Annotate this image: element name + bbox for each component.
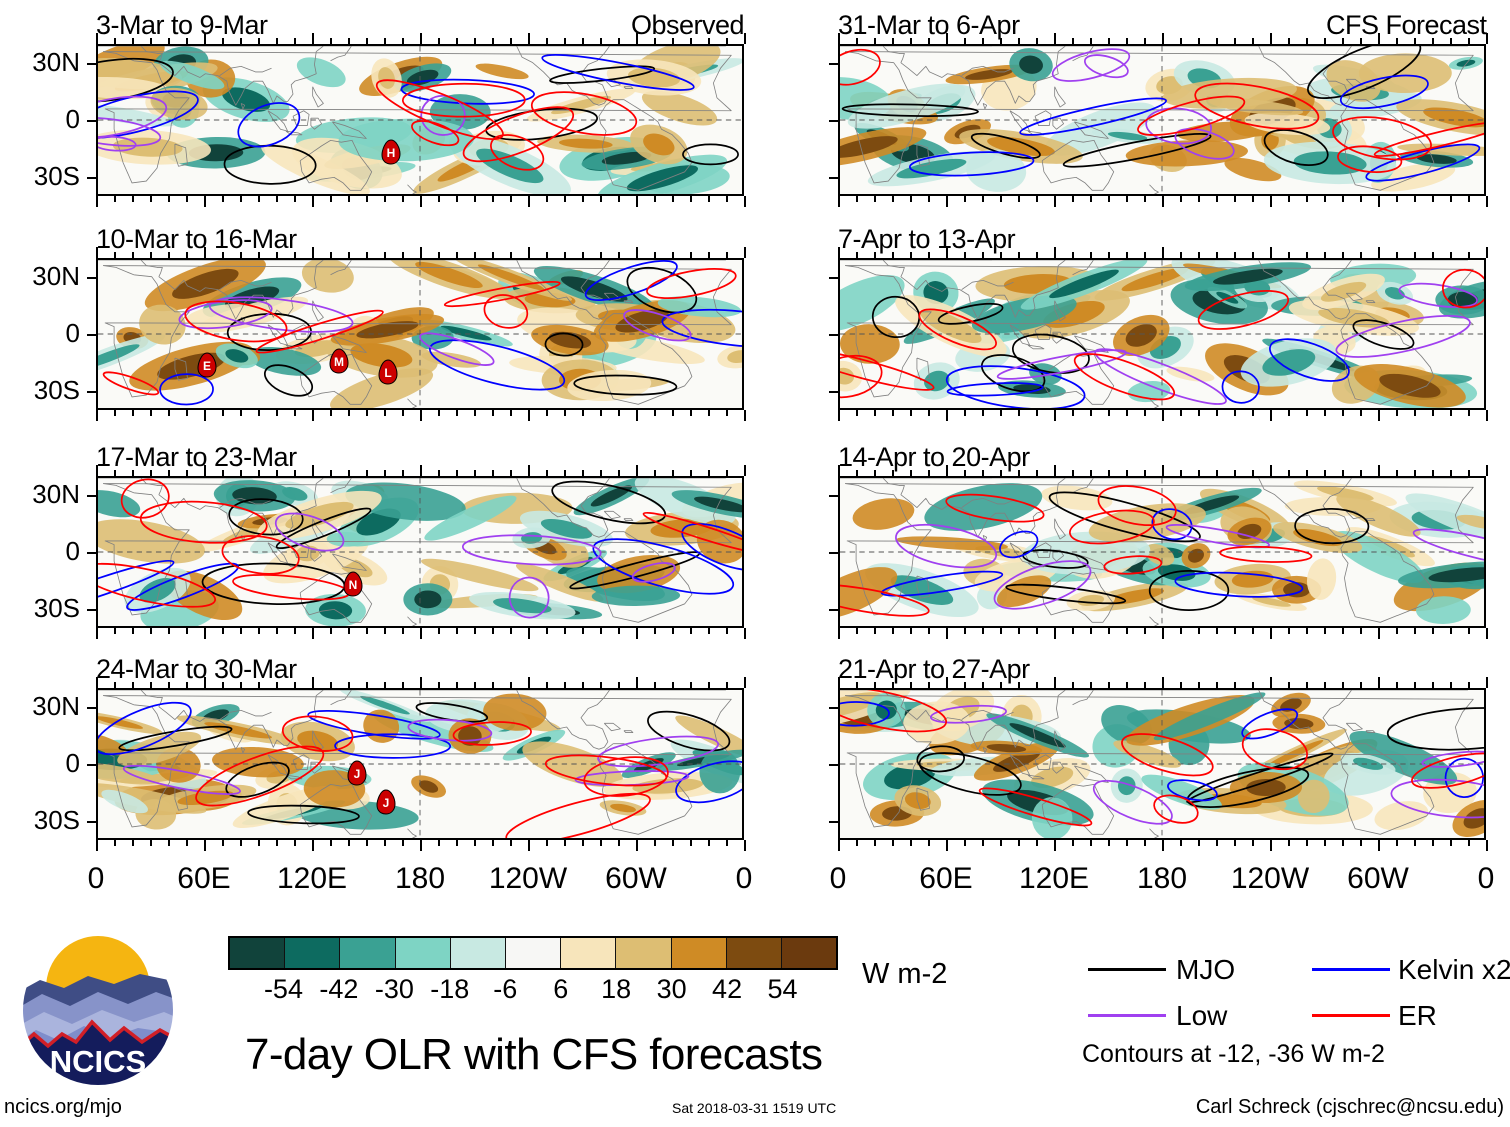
x-tick-mark [114,196,116,202]
x-tick-mark [1360,410,1362,416]
x-tick-mark [1252,682,1254,688]
x-tick-mark [946,677,948,688]
x-tick-mark [1468,682,1470,688]
x-tick-mark [420,840,422,851]
y-tick-mark [829,821,838,823]
x-tick-mark [1342,840,1344,846]
x-tick-mark [1090,470,1092,476]
x-tick-mark [1378,465,1380,476]
y-tick-mark [829,707,838,709]
x-tick-mark [1486,33,1488,44]
x-tick-mark [294,38,296,44]
x-tick-mark [510,470,512,476]
x-tick-mark [492,682,494,688]
x-tick-mark [240,840,242,846]
x-tick-mark [420,247,422,258]
x-tick-mark [1144,628,1146,634]
x-tick-mark [1288,38,1290,44]
x-tick-mark [1450,682,1452,688]
x-tick-mark [366,38,368,44]
x-tick-mark [1414,38,1416,44]
x-tick-mark [348,252,350,258]
x-tick-mark [456,38,458,44]
x-tick-mark [1306,682,1308,688]
y-tick-mark [829,277,838,279]
x-tick-mark [654,38,656,44]
x-tick-mark [294,628,296,634]
x-tick-mark [1180,628,1182,634]
x-tick-mark [96,677,98,688]
x-tick-mark [222,840,224,846]
x-tick-mark [1252,38,1254,44]
x-tick-mark [1270,465,1272,476]
colorbar-strip [228,936,838,970]
tropical-cyclone-marker-icon: J [375,789,397,815]
x-tick-mark [1396,38,1398,44]
x-tick-mark [168,682,170,688]
x-tick-mark [1468,38,1470,44]
svg-text:M: M [334,355,344,369]
x-tick-mark [1486,677,1488,688]
x-tick-mark [564,38,566,44]
x-tick-mark [672,682,674,688]
y-axis-label-30N: 30N [0,691,80,722]
x-tick-mark [1198,38,1200,44]
x-tick-mark [1072,628,1074,634]
x-tick-mark [438,38,440,44]
map-panel-fcst-1[interactable] [838,44,1486,196]
colorbar-bin-2 [340,938,395,968]
x-tick-mark [1072,196,1074,202]
x-tick-mark [348,840,350,846]
x-tick-mark [402,840,404,846]
x-tick-mark [402,628,404,634]
colorbar-bin-0 [230,938,285,968]
x-tick-mark [1036,252,1038,258]
x-tick-mark [366,410,368,416]
x-tick-mark [168,470,170,476]
x-tick-mark [132,840,134,846]
x-tick-mark [1432,628,1434,634]
x-tick-mark [438,628,440,634]
x-tick-mark [744,628,746,639]
legend-swatch-low [1088,1014,1166,1017]
x-tick-mark [1252,196,1254,202]
x-axis-label-60E: 60E [886,862,1006,896]
x-tick-mark [1000,38,1002,44]
x-tick-mark [690,682,692,688]
x-tick-mark [1162,196,1164,207]
colorbar: -54-42-30-18-6618304254 [228,936,868,1016]
x-tick-mark [1450,840,1452,846]
x-tick-mark [1288,682,1290,688]
x-tick-mark [1234,196,1236,202]
x-tick-mark [982,252,984,258]
x-tick-mark [1018,682,1020,688]
x-tick-mark [910,410,912,416]
x-tick-mark [744,410,746,421]
x-tick-mark [600,470,602,476]
x-tick-mark [384,196,386,202]
map-panel-fcst-4[interactable] [838,688,1486,840]
x-tick-mark [1198,470,1200,476]
x-tick-mark [96,247,98,258]
x-tick-mark [1090,410,1092,416]
x-tick-mark [928,410,930,416]
x-tick-mark [546,628,548,634]
ncics-logo[interactable]: NCICS [18,930,178,1090]
x-tick-mark [1270,628,1272,639]
x-tick-mark [1144,38,1146,44]
x-tick-mark [1414,196,1416,202]
x-tick-mark [1234,840,1236,846]
x-tick-mark [294,840,296,846]
x-tick-mark [910,196,912,202]
x-tick-mark [946,196,948,207]
x-tick-mark [1360,38,1362,44]
x-tick-mark [528,628,530,639]
x-tick-mark [438,682,440,688]
x-tick-mark [456,196,458,202]
colorbar-tick--54: -54 [264,974,303,1005]
x-tick-mark [690,840,692,846]
x-tick-mark [1072,38,1074,44]
x-tick-mark [384,410,386,416]
x-axis-label-0: 0 [778,862,898,896]
y-tick-mark [829,63,838,65]
x-tick-mark [1378,247,1380,258]
footer-left-link[interactable]: ncics.org/mjo [4,1096,122,1119]
x-tick-mark [744,247,746,258]
x-tick-mark [1324,628,1326,634]
x-tick-mark [258,252,260,258]
x-tick-mark [438,410,440,416]
x-tick-mark [1198,628,1200,634]
x-axis-label-120W: 120W [1210,862,1330,896]
x-tick-mark [186,38,188,44]
x-tick-mark [114,410,116,416]
x-tick-mark [1018,470,1020,476]
x-tick-mark [690,252,692,258]
x-tick-mark [168,628,170,634]
x-tick-mark [1108,628,1110,634]
x-tick-mark [150,196,152,202]
x-tick-mark [438,840,440,846]
x-tick-mark [402,410,404,416]
x-tick-mark [186,252,188,258]
x-tick-mark [1468,628,1470,634]
x-tick-mark [726,628,728,634]
x-tick-mark [186,196,188,202]
x-tick-mark [1324,470,1326,476]
x-tick-mark [1324,682,1326,688]
x-tick-mark [1378,196,1380,207]
panel-title-obs-2: 10-Mar to 16-Mar [96,224,297,255]
x-tick-mark [114,470,116,476]
tropical-cyclone-marker-icon: E [196,352,218,378]
x-tick-mark [1180,410,1182,416]
x-tick-mark [708,410,710,416]
x-tick-mark [1324,38,1326,44]
x-tick-mark [456,470,458,476]
x-tick-mark [1252,840,1254,846]
x-tick-mark [1090,196,1092,202]
x-tick-mark [910,38,912,44]
x-tick-mark [636,410,638,421]
x-tick-mark [240,196,242,202]
tropical-cyclone-marker-icon: L [377,359,399,385]
x-tick-mark [1234,252,1236,258]
x-tick-mark [708,682,710,688]
x-tick-mark [222,628,224,634]
colorbar-bin-6 [561,938,616,968]
x-tick-mark [366,682,368,688]
map-panel-obs-4[interactable]: JJ [96,688,744,840]
x-tick-mark [982,840,984,846]
x-tick-mark [150,682,152,688]
map-panel-obs-1[interactable]: H [96,44,744,196]
y-tick-mark [829,552,838,554]
x-tick-mark [1000,470,1002,476]
x-tick-mark [204,196,206,207]
x-tick-mark [492,252,494,258]
x-tick-mark [1036,410,1038,416]
x-tick-mark [1378,628,1380,639]
x-tick-mark [420,677,422,688]
column-header-right: CFS Forecast [1326,10,1486,41]
page-title: 7-day OLR with CFS forecasts [245,1030,822,1080]
x-tick-mark [1162,247,1164,258]
x-tick-mark [294,410,296,416]
x-tick-mark [114,628,116,634]
x-tick-mark [186,470,188,476]
x-tick-mark [726,38,728,44]
x-tick-mark [258,38,260,44]
x-tick-mark [222,38,224,44]
x-tick-mark [708,470,710,476]
x-tick-mark [1360,252,1362,258]
x-tick-mark [384,840,386,846]
panel-title-obs-4: 24-Mar to 30-Mar [96,654,297,685]
x-tick-mark [438,252,440,258]
x-tick-mark [330,682,332,688]
x-tick-mark [856,252,858,258]
panel-title-obs-1: 3-Mar to 9-Mar [96,10,268,41]
x-tick-mark [928,682,930,688]
x-tick-mark [492,410,494,416]
x-tick-mark [1216,252,1218,258]
x-tick-mark [1090,840,1092,846]
x-tick-mark [1234,410,1236,416]
x-tick-mark [474,628,476,634]
x-tick-mark [1414,628,1416,634]
x-tick-mark [276,410,278,416]
x-tick-mark [186,410,188,416]
x-tick-mark [1324,196,1326,202]
x-tick-mark [564,410,566,416]
x-tick-mark [1018,252,1020,258]
x-tick-mark [1072,470,1074,476]
y-tick-mark [87,63,96,65]
map-panel-fcst-2[interactable] [838,258,1486,410]
x-tick-mark [1072,410,1074,416]
x-tick-mark [1000,410,1002,416]
colorbar-bin-4 [451,938,506,968]
map-panel-obs-2[interactable]: EML [96,258,744,410]
x-tick-mark [910,470,912,476]
legend-swatch-kelvin [1312,968,1390,971]
x-tick-mark [1288,840,1290,846]
x-tick-mark [582,196,584,202]
x-tick-mark [582,682,584,688]
y-axis-label-30S: 30S [0,805,80,836]
x-tick-mark [892,840,894,846]
x-tick-mark [618,470,620,476]
y-tick-mark [87,821,96,823]
x-tick-mark [312,465,314,476]
x-axis-label-180: 180 [1102,862,1222,896]
x-tick-mark [1108,682,1110,688]
x-tick-mark [420,465,422,476]
legend-label-er: ER [1398,1000,1437,1032]
x-tick-mark [1288,470,1290,476]
x-tick-mark [528,840,530,851]
x-tick-mark [330,628,332,634]
x-tick-mark [114,840,116,846]
x-tick-mark [654,196,656,202]
x-tick-mark [96,196,98,207]
x-tick-mark [420,628,422,639]
x-tick-mark [474,38,476,44]
x-tick-mark [546,840,548,846]
x-tick-mark [1162,840,1164,851]
x-tick-mark [1306,252,1308,258]
x-tick-mark [1198,682,1200,688]
x-tick-mark [240,252,242,258]
x-tick-mark [964,38,966,44]
map-panel-fcst-3[interactable] [838,476,1486,628]
x-tick-mark [1054,196,1056,207]
x-tick-mark [132,252,134,258]
x-tick-mark [582,840,584,846]
x-tick-mark [690,38,692,44]
svg-text:N: N [348,578,357,592]
colorbar-tick--42: -42 [319,974,358,1005]
legend-label-kelvin: Kelvin x2 [1398,954,1510,986]
x-tick-mark [838,840,840,851]
x-tick-mark [222,252,224,258]
x-tick-mark [240,682,242,688]
map-panel-obs-3[interactable]: N [96,476,744,628]
x-tick-mark [654,470,656,476]
x-tick-mark [204,840,206,851]
x-tick-mark [366,252,368,258]
y-tick-mark [87,707,96,709]
y-tick-mark [829,495,838,497]
tropical-cyclone-marker-icon: M [328,348,350,374]
x-tick-mark [1000,840,1002,846]
x-axis-label-60W: 60W [1318,862,1438,896]
x-tick-mark [1090,682,1092,688]
x-tick-mark [1450,628,1452,634]
y-axis-label-0: 0 [0,536,80,567]
x-tick-mark [1270,247,1272,258]
colorbar-tick-6: 6 [553,974,568,1005]
x-tick-mark [132,38,134,44]
x-tick-mark [856,628,858,634]
y-tick-mark [87,334,96,336]
x-tick-mark [726,196,728,202]
x-tick-mark [1486,247,1488,258]
x-axis-label-120E: 120E [994,862,1114,896]
x-tick-mark [1378,33,1380,44]
x-tick-mark [366,470,368,476]
x-tick-mark [402,196,404,202]
x-tick-mark [510,682,512,688]
x-tick-mark [456,840,458,846]
x-tick-mark [1054,465,1056,476]
x-tick-mark [1108,252,1110,258]
x-tick-mark [1396,682,1398,688]
footer-author: Carl Schreck (cjschrec@ncsu.edu) [1196,1096,1504,1119]
x-tick-mark [96,465,98,476]
x-tick-mark [1054,33,1056,44]
x-tick-mark [1000,196,1002,202]
x-tick-mark [1450,38,1452,44]
x-tick-mark [1108,410,1110,416]
x-tick-mark [1090,252,1092,258]
x-tick-mark [420,33,422,44]
x-tick-mark [654,840,656,846]
x-tick-mark [1018,840,1020,846]
x-tick-mark [1342,410,1344,416]
x-tick-mark [946,840,948,851]
svg-text:L: L [385,366,392,380]
x-tick-mark [294,470,296,476]
x-tick-mark [1180,470,1182,476]
x-tick-mark [348,682,350,688]
x-tick-mark [294,196,296,202]
x-axis-label-120W: 120W [468,862,588,896]
x-tick-mark [168,38,170,44]
x-tick-mark [1306,196,1308,202]
x-tick-mark [1072,252,1074,258]
x-tick-mark [1144,196,1146,202]
x-tick-mark [946,410,948,421]
x-tick-mark [1252,628,1254,634]
x-tick-mark [1432,252,1434,258]
x-tick-mark [1018,196,1020,202]
x-tick-mark [690,628,692,634]
x-tick-mark [258,682,260,688]
legend-contour-note: Contours at -12, -36 W m-2 [1082,1040,1385,1069]
x-tick-mark [1396,410,1398,416]
legend-label-low: Low [1176,1000,1227,1032]
x-tick-mark [1234,38,1236,44]
x-tick-mark [892,628,894,634]
panel-title-obs-3: 17-Mar to 23-Mar [96,442,297,473]
x-tick-mark [982,628,984,634]
x-tick-mark [618,38,620,44]
x-tick-mark [168,252,170,258]
colorbar-tick-30: 30 [657,974,687,1005]
x-tick-mark [1036,682,1038,688]
colorbar-tick-54: 54 [768,974,798,1005]
colorbar-bin-5 [506,938,561,968]
x-tick-mark [1396,840,1398,846]
y-axis-label-0: 0 [0,748,80,779]
x-tick-mark [708,628,710,634]
